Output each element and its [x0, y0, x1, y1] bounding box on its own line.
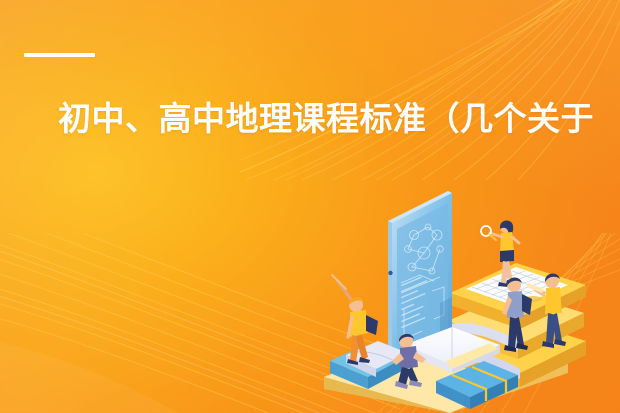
illustration-canvas	[300, 163, 620, 413]
tablet-camera-dot	[388, 271, 392, 275]
banner-hero: 初中、高中地理课程标准（几个关于	[0, 0, 620, 413]
isometric-education-illustration	[300, 163, 620, 413]
title-divider-rule	[24, 53, 95, 57]
page-title: 初中、高中地理课程标准（几个关于	[58, 98, 598, 140]
wave-lines-top-right-icon	[240, 0, 620, 180]
